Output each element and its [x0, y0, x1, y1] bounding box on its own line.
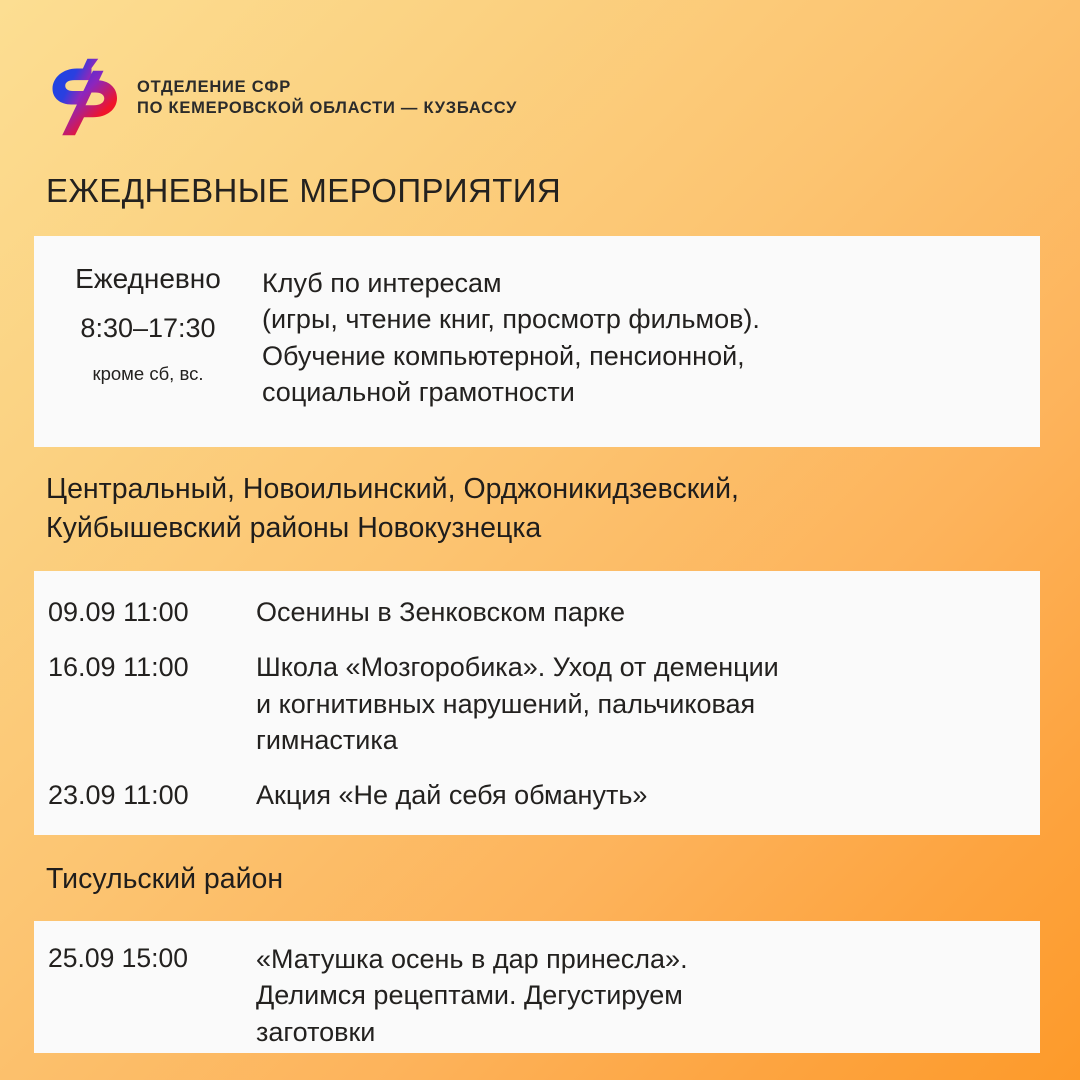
event-datetime: 09.09 11:00 [34, 594, 256, 630]
section-heading-line: Куйбышевский районы Новокузнецка [46, 509, 1046, 548]
event-row: 09.09 11:00 Осенины в Зенковском парке [34, 594, 1040, 630]
org-header: ОТДЕЛЕНИЕ СФР ПО КЕМЕРОВСКОЙ ОБЛАСТИ — К… [46, 58, 517, 136]
sfr-monogram-icon [46, 58, 122, 136]
daily-description-line: социальной грамотности [262, 374, 1022, 410]
event-description-line: Школа «Мозгоробика». Уход от деменции [256, 649, 1014, 685]
section-heading-line: Тисульский район [46, 860, 646, 899]
daily-frequency-label: Ежедневно [75, 265, 221, 293]
daily-time-range: 8:30–17:30 [80, 315, 215, 342]
section-heading-tisulsky: Тисульский район [46, 860, 646, 899]
event-description-line: «Матушка осень в дар принесла». [256, 941, 1014, 977]
event-description: «Матушка осень в дар принесла». Делимся … [256, 941, 1040, 1050]
section-heading-line: Центральный, Новоильинский, Орджоникидзе… [46, 470, 1046, 509]
event-row: 23.09 11:00 Акция «Не дай себя обмануть» [34, 777, 1040, 813]
event-datetime: 25.09 15:00 [34, 941, 256, 977]
daily-event-row: Ежедневно 8:30–17:30 кроме сб, вс. Клуб … [34, 236, 1040, 410]
daily-description-line: Клуб по интересам [262, 265, 1022, 301]
event-description-line: гимнастика [256, 722, 1014, 758]
tisulsky-events-card: 25.09 15:00 «Матушка осень в дар принесл… [34, 921, 1040, 1053]
event-description: Школа «Мозгоробика». Уход от деменции и … [256, 649, 1040, 758]
event-datetime: 16.09 11:00 [34, 649, 256, 685]
event-datetime: 23.09 11:00 [34, 777, 256, 813]
daily-events-card: Ежедневно 8:30–17:30 кроме сб, вс. Клуб … [34, 236, 1040, 447]
daily-schedule-column: Ежедневно 8:30–17:30 кроме сб, вс. [34, 265, 262, 384]
page-title: ЕЖЕДНЕВНЫЕ МЕРОПРИЯТИЯ [46, 172, 561, 210]
daily-description-column: Клуб по интересам (игры, чтение книг, пр… [262, 265, 1040, 410]
org-name-line-1: ОТДЕЛЕНИЕ СФР [137, 78, 517, 97]
event-description: Осенины в Зенковском парке [256, 594, 1040, 630]
daily-description-line: Обучение компьютерной, пенсионной, [262, 338, 1022, 374]
event-description-line: заготовки [256, 1014, 1014, 1050]
section-heading-novokuznetsk: Центральный, Новоильинский, Орджоникидзе… [46, 470, 1046, 548]
event-description-line: Делимся рецептами. Дегустируем [256, 977, 1014, 1013]
event-row: 16.09 11:00 Школа «Мозгоробика». Уход от… [34, 649, 1040, 758]
event-description: Акция «Не дай себя обмануть» [256, 777, 1040, 813]
daily-description-line: (игры, чтение книг, просмотр фильмов). [262, 301, 1022, 337]
daily-exception-note: кроме сб, вс. [93, 365, 204, 384]
event-row: 25.09 15:00 «Матушка осень в дар принесл… [34, 941, 1040, 1050]
novokuznetsk-events-card: 09.09 11:00 Осенины в Зенковском парке 1… [34, 571, 1040, 835]
org-name: ОТДЕЛЕНИЕ СФР ПО КЕМЕРОВСКОЙ ОБЛАСТИ — К… [137, 76, 517, 119]
event-description-line: Осенины в Зенковском парке [256, 594, 1014, 630]
event-description-line: и когнитивных нарушений, пальчиковая [256, 686, 1014, 722]
event-description-line: Акция «Не дай себя обмануть» [256, 777, 1014, 813]
org-name-line-2: ПО КЕМЕРОВСКОЙ ОБЛАСТИ — КУЗБАССУ [137, 99, 517, 118]
